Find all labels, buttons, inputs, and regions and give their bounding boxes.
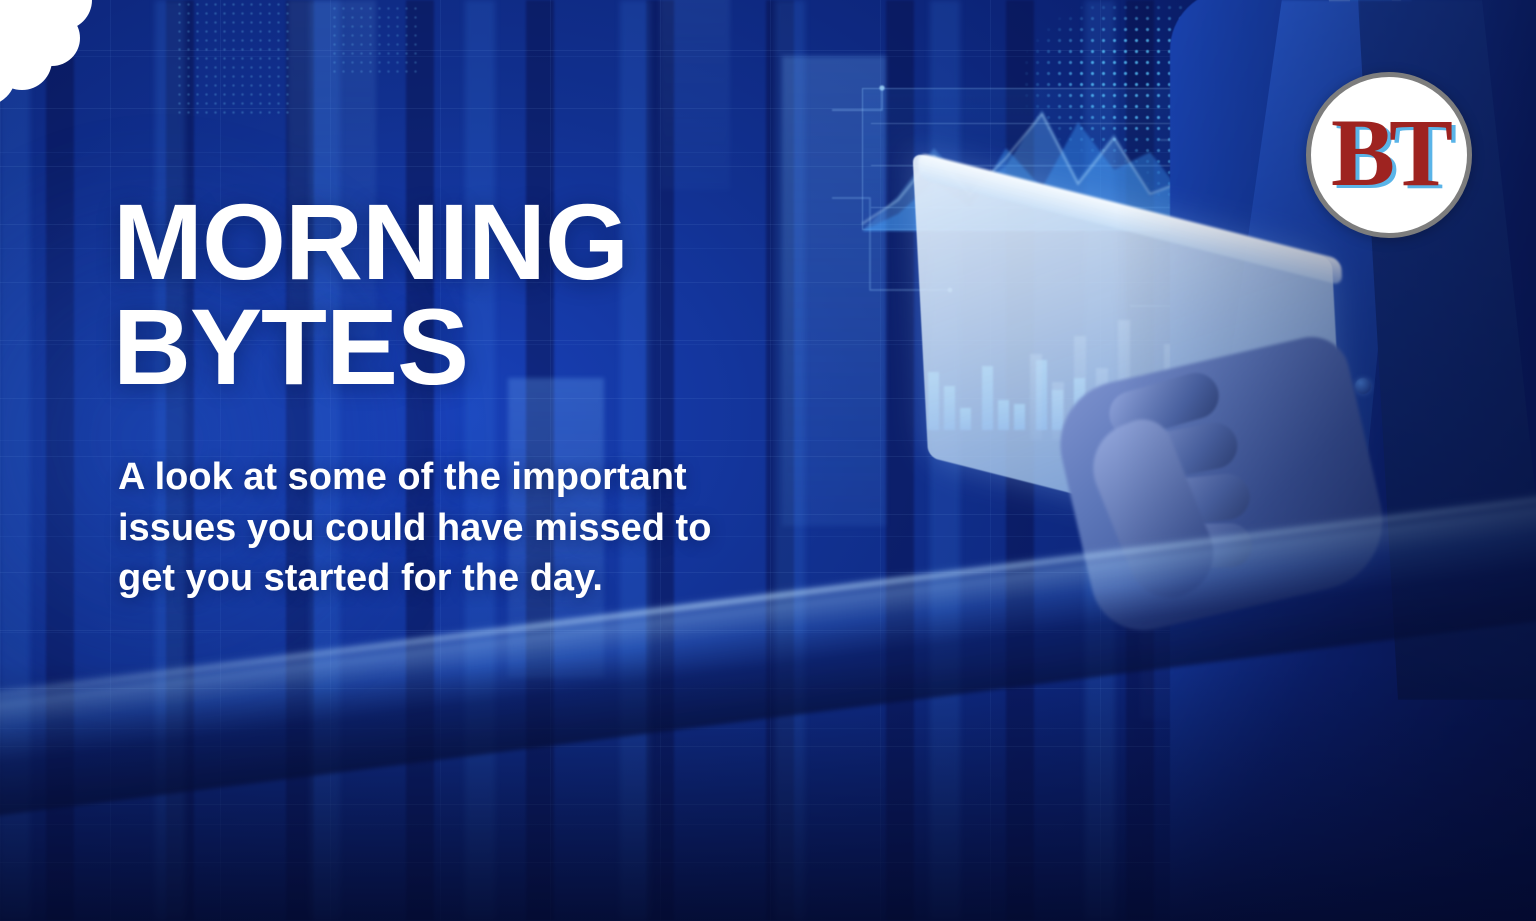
headline-line-2: BYTES [113,295,628,400]
scalloped-corner-badge-icon [0,0,134,113]
hologram-bar [660,0,730,190]
subtitle-line-2: issues you could have missed to [118,503,818,554]
bt-logo-initials: BT [1331,105,1447,201]
page-title: MORNING BYTES [113,190,628,400]
morning-bytes-promo-card: MORNING BYTES A look at some of the impo… [0,0,1536,921]
subtitle-line-3: get you started for the day. [118,553,818,604]
dot-matrix-texture [330,4,420,74]
page-subtitle: A look at some of the important issues y… [118,452,818,604]
subtitle-line-1: A look at some of the important [118,452,818,503]
bt-logo: BT [1306,72,1472,238]
dot-matrix-texture [175,0,295,120]
headline-line-1: MORNING [113,190,628,295]
